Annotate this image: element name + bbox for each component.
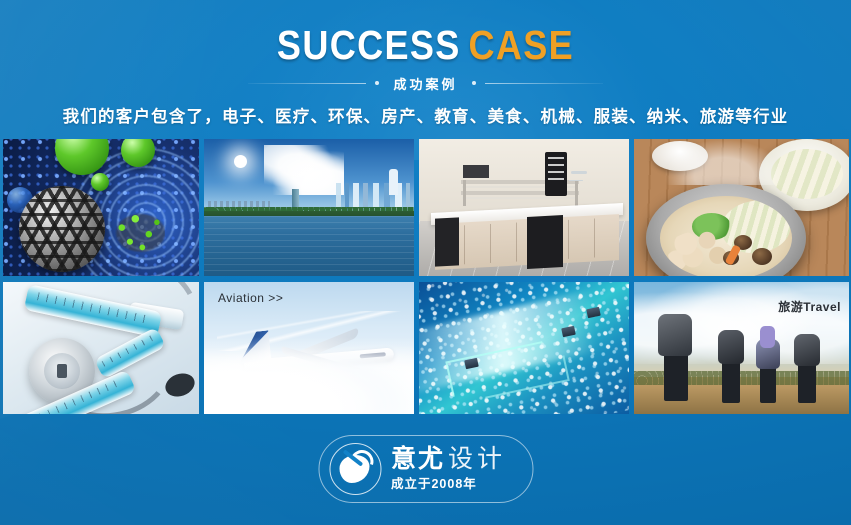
backpack — [794, 334, 820, 366]
wall-cabinet — [463, 165, 489, 178]
electronics-image — [419, 282, 629, 414]
soup — [660, 196, 792, 276]
divider-line-right — [485, 83, 603, 84]
gallery-tile-electronics[interactable] — [419, 282, 629, 414]
shelf-post — [463, 180, 466, 206]
leaf-bird-mark-icon — [329, 443, 381, 495]
company-logo[interactable]: 意尤 设计 成立于2008年 — [318, 435, 533, 503]
logo-name-thin: 设计 — [448, 447, 506, 472]
smoke-plume — [264, 145, 344, 195]
logo-established: 成立于2008年 — [391, 478, 506, 491]
cooling-tower — [389, 169, 398, 195]
success-case-banner: SUCCESSCASE 成功案例 我们的客户包含了，电子、医疗、环保、房产、教育… — [0, 0, 851, 525]
fullerene-molecule — [19, 186, 105, 272]
bench-end-panel — [435, 217, 459, 266]
subtitle-chinese: 成功案例 — [388, 74, 462, 93]
nanotech-image — [3, 139, 199, 276]
page-title: SUCCESSCASE — [51, 0, 800, 67]
food-image — [634, 139, 849, 276]
logo-text-block: 意尤 设计 成立于2008年 — [391, 447, 506, 491]
tile-caption-travel: 旅游Travel — [778, 298, 841, 315]
divider-line-left — [248, 83, 366, 84]
medical-image — [3, 282, 199, 414]
sun — [234, 155, 247, 168]
case-gallery-grid: Aviation >> — [3, 139, 848, 414]
tile-caption-aviation: Aviation >> — [218, 291, 283, 305]
title-word-success: SUCCESS — [277, 22, 461, 68]
gallery-tile-medical[interactable] — [3, 282, 199, 414]
gallery-tile-travel[interactable]: 旅游Travel — [634, 282, 849, 414]
environment-image — [204, 139, 414, 276]
control-panel — [545, 152, 567, 196]
logo-name-bold: 意尤 — [391, 447, 445, 472]
gallery-tile-lab-furniture[interactable] — [419, 139, 629, 276]
gallery-tile-nanotech[interactable] — [3, 139, 199, 276]
gallery-tile-aviation[interactable]: Aviation >> — [204, 282, 414, 414]
sleeping-mat — [760, 326, 775, 348]
cloud-layer — [204, 337, 414, 414]
lab-faucet — [571, 171, 587, 174]
subtitle-divider-row: 成功案例 — [0, 74, 851, 92]
shelf-post — [575, 180, 578, 206]
water — [204, 216, 414, 276]
tagline-industries: 我们的客户包含了，电子、医疗、环保、房产、教育、美食、机械、服装、纳米、旅游等行… — [0, 103, 851, 127]
divider-dot-right — [472, 81, 476, 85]
backpack — [658, 314, 692, 356]
backpack — [718, 330, 744, 364]
title-word-case: CASE — [469, 22, 575, 68]
banner-header: SUCCESSCASE 成功案例 我们的客户包含了，电子、医疗、环保、房产、教育… — [0, 0, 851, 127]
logo-company-name: 意尤 设计 — [391, 447, 506, 472]
green-molecule-cluster — [111, 210, 165, 254]
gallery-tile-food[interactable] — [634, 139, 849, 276]
fullerene-lattice — [19, 186, 105, 272]
shiitake-mushroom — [752, 248, 772, 265]
divider-dot-left — [375, 81, 379, 85]
bench-end-panel — [527, 215, 563, 269]
steam — [664, 139, 784, 185]
gallery-tile-environment[interactable] — [204, 139, 414, 276]
lab-furniture-image — [419, 139, 629, 276]
